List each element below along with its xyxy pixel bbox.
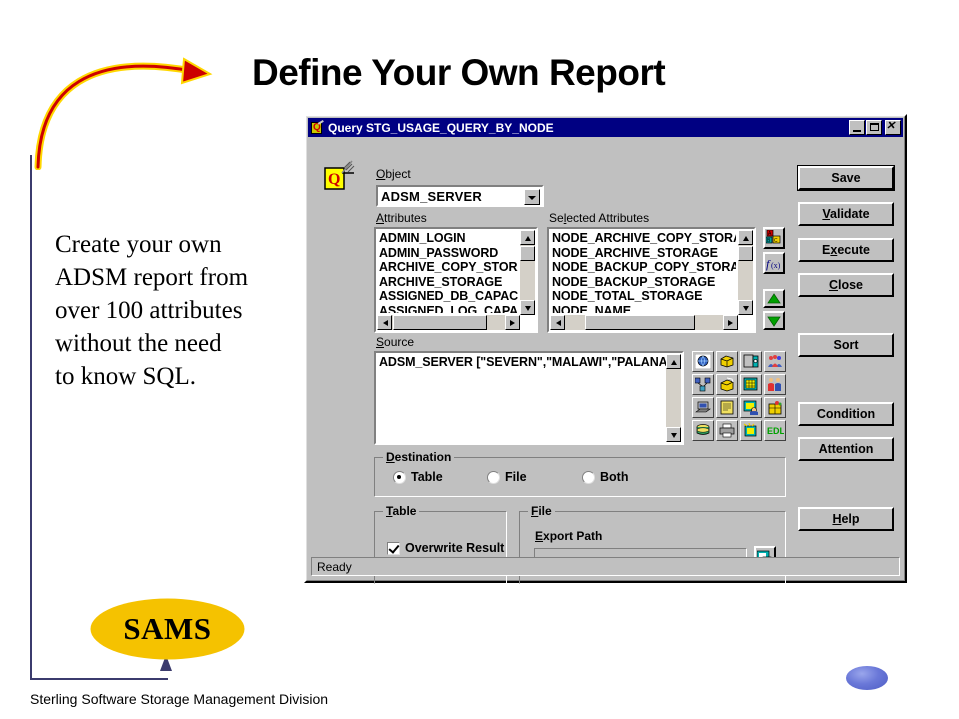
database-grid-icon[interactable] bbox=[740, 374, 762, 395]
list-item[interactable]: NODE_BACKUP_COPY_STORAGE bbox=[552, 260, 736, 275]
attention-button[interactable]: Attention bbox=[798, 437, 894, 461]
package-star-icon[interactable] bbox=[764, 397, 786, 418]
list-item[interactable]: NODE_NAME bbox=[552, 304, 736, 314]
query-pen-icon: Q bbox=[322, 157, 356, 191]
list-item[interactable]: NODE_TOTAL_STORAGE bbox=[552, 289, 736, 304]
attributes-items: ADMIN_LOGIN ADMIN_PASSWORD ARCHIVE_COPY_… bbox=[379, 231, 518, 313]
attributes-listbox[interactable]: ADMIN_LOGIN ADMIN_PASSWORD ARCHIVE_COPY_… bbox=[374, 227, 538, 333]
list-item[interactable]: ARCHIVE_COPY_STORAG bbox=[379, 260, 518, 275]
blocks-abc-icon[interactable]: A B C bbox=[763, 227, 785, 249]
object-label: Object bbox=[376, 167, 411, 181]
checkbox-indicator bbox=[387, 542, 400, 555]
scroll-right-icon[interactable] bbox=[505, 315, 520, 330]
move-up-icon[interactable] bbox=[763, 289, 785, 308]
radio-indicator bbox=[487, 471, 500, 484]
schedule-icon[interactable] bbox=[740, 420, 762, 441]
radio-label: Table bbox=[411, 470, 443, 484]
scroll-thumb[interactable] bbox=[520, 246, 535, 261]
blue-ellipse-decoration bbox=[846, 666, 888, 690]
scroll-down-icon[interactable] bbox=[666, 427, 681, 442]
query-document-icon: Q bbox=[311, 121, 325, 135]
list-item[interactable]: NODE_ARCHIVE_STORAGE bbox=[552, 246, 736, 261]
query-dialog-window: Q Query STG_USAGE_QUERY_BY_NODE ✕ Q Obje… bbox=[304, 114, 907, 583]
source-value: ADSM_SERVER ["SEVERN","MALAWI","PALANA"] bbox=[379, 355, 677, 369]
network-nodes-icon[interactable] bbox=[692, 374, 714, 395]
sams-logo-text: SAMS bbox=[90, 598, 245, 660]
chevron-down-icon[interactable] bbox=[524, 189, 540, 205]
selected-attributes-label: Selected Attributes bbox=[549, 211, 649, 225]
printer-icon[interactable] bbox=[716, 420, 738, 441]
svg-text:Q: Q bbox=[328, 171, 340, 188]
document-list-icon[interactable] bbox=[716, 397, 738, 418]
radio-indicator bbox=[393, 471, 406, 484]
condition-button[interactable]: Condition bbox=[798, 402, 894, 426]
body-line: over 100 attributes bbox=[55, 294, 317, 327]
page-title: Define Your Own Report bbox=[252, 52, 772, 94]
group-people-icon[interactable] bbox=[764, 351, 786, 372]
disk-stack-icon[interactable] bbox=[692, 420, 714, 441]
scroll-left-icon[interactable] bbox=[550, 315, 565, 330]
list-item[interactable]: ASSIGNED_DB_CAPAC bbox=[379, 289, 518, 304]
svg-text:C: C bbox=[774, 238, 778, 244]
move-down-icon[interactable] bbox=[763, 311, 785, 330]
svg-text:(x): (x) bbox=[771, 261, 781, 270]
body-line: ADSM report from bbox=[55, 261, 317, 294]
scroll-thumb[interactable] bbox=[738, 246, 753, 261]
slide-body-text: Create your own ADSM report from over 10… bbox=[55, 228, 317, 393]
radio-table[interactable]: Table bbox=[393, 470, 443, 484]
close-icon[interactable]: ✕ bbox=[885, 120, 901, 135]
radio-file[interactable]: File bbox=[487, 470, 527, 484]
save-button[interactable]: Save bbox=[798, 166, 894, 190]
window-title: Query STG_USAGE_QUERY_BY_NODE bbox=[328, 121, 848, 135]
attributes-vscrollbar[interactable] bbox=[520, 230, 535, 315]
open-box-icon[interactable] bbox=[716, 374, 738, 395]
selected-attributes-items: NODE_ARCHIVE_COPY_STORAG NODE_ARCHIVE_ST… bbox=[552, 231, 736, 313]
source-vscrollbar[interactable] bbox=[666, 354, 681, 442]
radio-indicator bbox=[582, 471, 595, 484]
list-item[interactable]: NODE_BACKUP_STORAGE bbox=[552, 275, 736, 290]
status-text: Ready bbox=[317, 560, 352, 574]
scroll-up-icon[interactable] bbox=[666, 354, 681, 369]
list-item[interactable]: ARCHIVE_STORAGE bbox=[379, 275, 518, 290]
attributes-hscrollbar[interactable] bbox=[377, 315, 520, 330]
scroll-down-icon[interactable] bbox=[738, 300, 753, 315]
overwrite-result-checkbox[interactable]: Overwrite Result bbox=[387, 541, 504, 555]
attributes-label: Attributes bbox=[376, 211, 427, 225]
window-client-area: Q Object ADSM_SERVER Attributes ADMIN_LO… bbox=[308, 139, 903, 579]
computer-icon[interactable] bbox=[692, 397, 714, 418]
selected-hscrollbar[interactable] bbox=[550, 315, 738, 330]
source-icon-grid: EDL bbox=[692, 351, 786, 441]
sort-button[interactable]: Sort bbox=[798, 333, 894, 357]
edl-icon[interactable]: EDL bbox=[764, 420, 786, 441]
footer-text: Sterling Software Storage Management Div… bbox=[30, 691, 328, 707]
checkbox-label: Overwrite Result bbox=[405, 541, 504, 555]
selected-vscrollbar[interactable] bbox=[738, 230, 753, 315]
file-group-label: File bbox=[528, 504, 555, 518]
minimize-icon[interactable] bbox=[849, 120, 865, 135]
table-group-label: Table bbox=[383, 504, 419, 518]
status-bar: Ready bbox=[311, 557, 900, 576]
object-combo-value: ADSM_SERVER bbox=[381, 189, 482, 204]
radio-both[interactable]: Both bbox=[582, 470, 628, 484]
svg-text:EDL: EDL bbox=[767, 426, 784, 436]
destination-group: Destination Table File Both bbox=[374, 457, 786, 497]
radio-label: File bbox=[505, 470, 527, 484]
radio-label: Both bbox=[600, 470, 628, 484]
body-line: to know SQL. bbox=[55, 360, 317, 393]
export-path-label: Export Path bbox=[535, 529, 602, 543]
list-item[interactable]: ADMIN_LOGIN bbox=[379, 231, 518, 246]
globe-icon[interactable] bbox=[692, 351, 714, 372]
object-combo[interactable]: ADSM_SERVER bbox=[376, 185, 544, 207]
window-titlebar[interactable]: Q Query STG_USAGE_QUERY_BY_NODE ✕ bbox=[308, 118, 903, 137]
function-fx-icon[interactable]: f (x) bbox=[763, 252, 785, 274]
source-label: Source bbox=[376, 335, 414, 349]
yellow-box-icon[interactable] bbox=[716, 351, 738, 372]
bracket-vertical-line bbox=[30, 155, 32, 680]
help-button[interactable]: Help bbox=[798, 507, 894, 531]
scroll-left-icon[interactable] bbox=[377, 315, 392, 330]
destination-label: Destination bbox=[383, 450, 454, 464]
bracket-horizontal-line bbox=[30, 678, 168, 680]
two-people-icon[interactable] bbox=[764, 374, 786, 395]
open-safe-icon[interactable] bbox=[740, 351, 762, 372]
selected-attributes-listbox[interactable]: NODE_ARCHIVE_COPY_STORAG NODE_ARCHIVE_ST… bbox=[547, 227, 756, 333]
curved-arrow-decoration bbox=[34, 45, 254, 170]
close-button[interactable]: Close bbox=[798, 273, 894, 297]
list-item[interactable]: ASSIGNED_LOG_CAPAC bbox=[379, 304, 518, 314]
scroll-right-icon[interactable] bbox=[723, 315, 738, 330]
scroll-up-icon[interactable] bbox=[738, 230, 753, 245]
list-item[interactable]: NODE_ARCHIVE_COPY_STORAG bbox=[552, 231, 736, 246]
validate-button[interactable]: Validate bbox=[798, 202, 894, 226]
scroll-thumb[interactable] bbox=[393, 315, 487, 330]
scroll-thumb[interactable] bbox=[585, 315, 695, 330]
scroll-down-icon[interactable] bbox=[520, 300, 535, 315]
admin-user-icon[interactable] bbox=[740, 397, 762, 418]
scroll-up-icon[interactable] bbox=[520, 230, 535, 245]
body-line: without the need bbox=[55, 327, 317, 360]
body-line: Create your own bbox=[55, 228, 317, 261]
source-textarea[interactable]: ADSM_SERVER ["SEVERN","MALAWI","PALANA"] bbox=[374, 351, 684, 445]
execute-button[interactable]: Execute bbox=[798, 238, 894, 262]
maximize-icon[interactable] bbox=[866, 120, 882, 135]
list-item[interactable]: ADMIN_PASSWORD bbox=[379, 246, 518, 261]
